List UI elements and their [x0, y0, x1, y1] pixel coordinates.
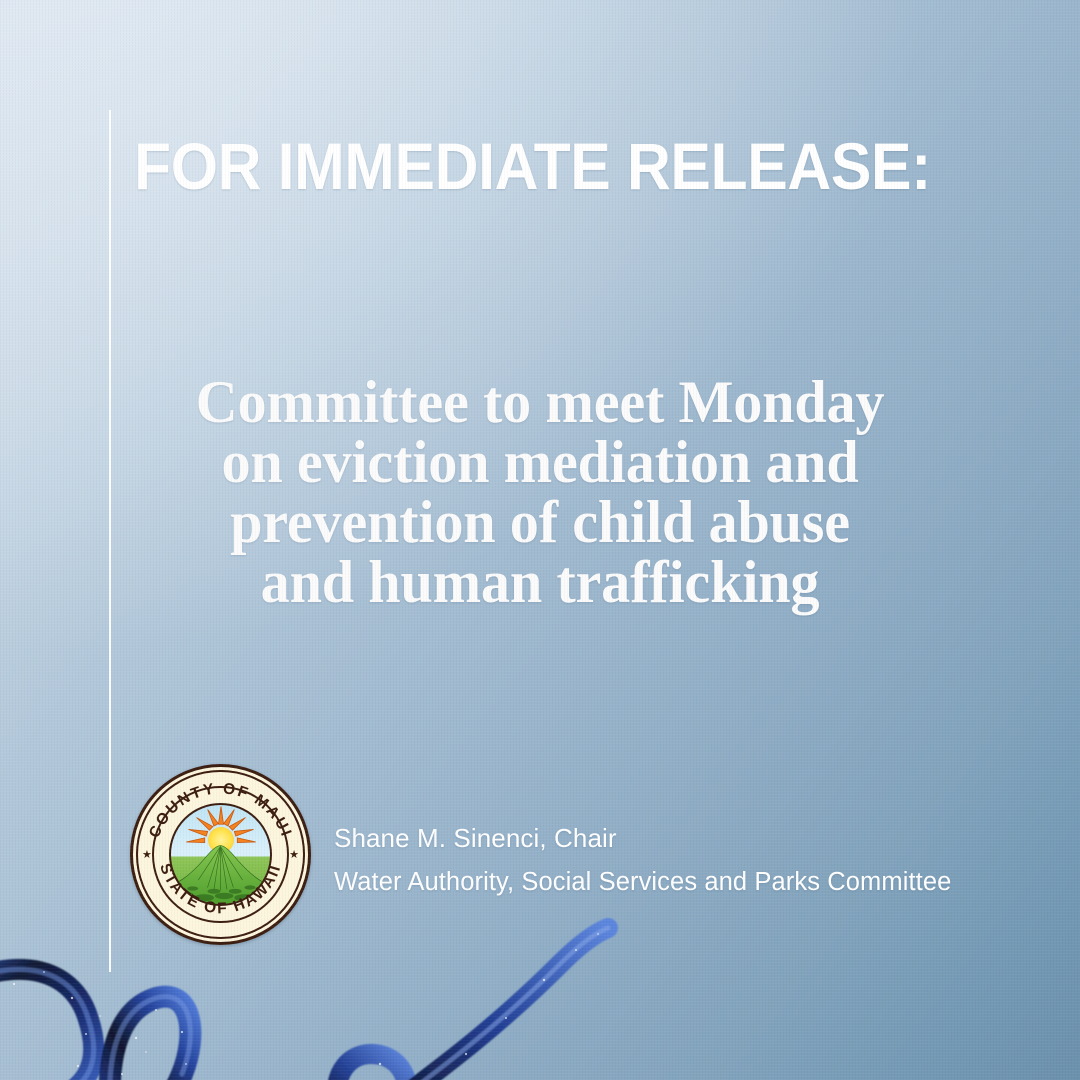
release-headline: Committee to meet Monday on eviction med…: [74, 372, 1005, 612]
seal-ring-text: COUNTY OF MAUI STATE OF HAWAII: [130, 764, 311, 945]
county-of-maui-seal-icon: COUNTY OF MAUI STATE OF HAWAII ★ ★: [130, 764, 311, 945]
seal-top-text: COUNTY OF MAUI: [146, 780, 295, 840]
release-headline-line-4: and human trafficking: [74, 552, 1005, 612]
signature-name: Shane M. Sinenci, Chair: [334, 816, 951, 860]
seal-star-left-icon: ★: [142, 851, 152, 859]
signature-committee: Water Authority, Social Services and Par…: [334, 860, 951, 904]
signature-block: Shane M. Sinenci, Chair Water Authority,…: [334, 816, 951, 904]
press-release-poster: FOR IMMEDIATE RELEASE: Committee to meet…: [0, 0, 1080, 1080]
page-title: FOR IMMEDIATE RELEASE:: [134, 133, 971, 199]
seal-bottom-text: STATE OF HAWAII: [156, 861, 285, 917]
release-headline-line-3: prevention of child abuse: [74, 492, 1005, 552]
svg-text:COUNTY OF MAUI: COUNTY OF MAUI: [146, 780, 295, 840]
release-headline-line-2: on eviction mediation and: [74, 432, 1005, 492]
release-headline-line-1: Committee to meet Monday: [74, 372, 1005, 432]
seal-star-right-icon: ★: [289, 851, 299, 859]
blue-glitter-ribbon-swirls-icon: [0, 906, 700, 1080]
svg-text:STATE OF HAWAII: STATE OF HAWAII: [156, 861, 285, 917]
